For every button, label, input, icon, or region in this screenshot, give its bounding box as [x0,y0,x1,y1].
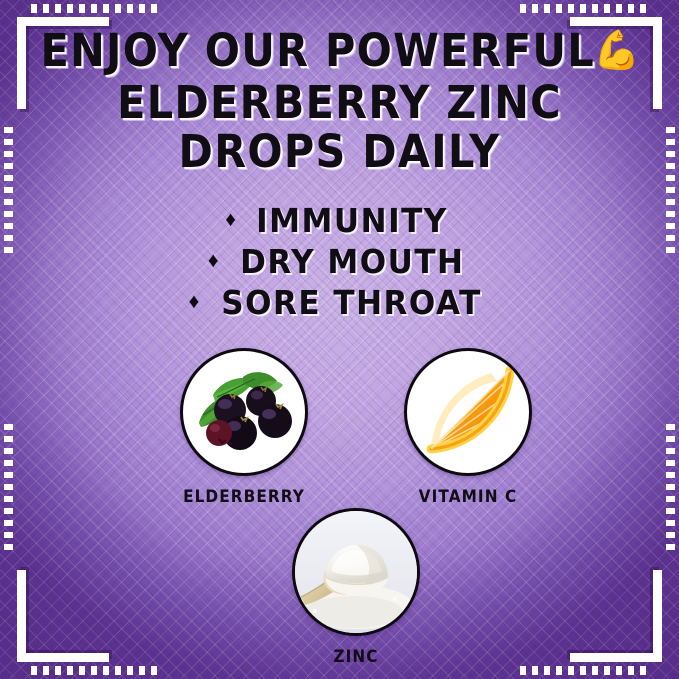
ingredient-label: VITAMIN C [407,487,529,507]
flexed-biceps-icon: 💪 [593,26,640,75]
bracket-shadow-vertical [20,567,29,659]
frame-dashes-horizontal [31,666,159,675]
frame-dashes-horizontal [520,666,648,675]
ingredient-label: ELDERBERRY [183,487,305,507]
frame-dashes-vertical [4,424,13,552]
bracket-arm-vertical [17,570,26,662]
elderberry-icon [183,351,305,473]
ingredient-elderberry: ELDERBERRY [176,348,312,507]
benefits-list: ♦ IMMUNITY ♦ DRY MOUTH ♦ SORE THROAT [0,200,679,323]
headline-line-3: DROPS DAILY [27,127,652,176]
bracket-shadow-vertical [650,567,659,659]
benefit-label: IMMUNITY [256,201,448,240]
zinc-powder-icon [295,511,417,633]
bracket-arm-horizontal [570,653,662,662]
diamond-bullet-icon: ♦ [208,250,219,271]
orange-slice-icon [407,351,529,473]
ingredient-label: ZINC [295,647,417,667]
headline-line-2: ELDERBERRY ZINC [27,78,652,127]
headline-line-1: ENJOY OUR POWERFUL💪 [27,26,652,78]
ingredient-image-circle [180,348,308,476]
bracket-arm-vertical [653,570,662,662]
ingredient-image-circle [292,508,420,636]
product-infographic: ENJOY OUR POWERFUL💪 ELDERBERRY ZINC DROP… [0,0,679,679]
diamond-bullet-icon: ♦ [189,291,200,312]
headline-block: ENJOY OUR POWERFUL💪 ELDERBERRY ZINC DROP… [0,26,679,176]
ingredient-image-circle [404,348,532,476]
headline-line-1-text: ENJOY OUR POWERFUL [41,24,595,77]
frame-dashes-vertical [666,424,675,552]
benefit-item-sore-throat: ♦ SORE THROAT [189,282,491,323]
ingredient-vitamin-c: VITAMIN C [400,348,536,507]
frame-dashes-horizontal [31,4,159,13]
corner-frame-bottom-left [17,512,167,662]
frame-dashes-horizontal [520,4,648,13]
corner-frame-bottom-right [512,512,662,662]
diamond-bullet-icon: ♦ [225,209,236,230]
bracket-shadow-horizontal [20,650,112,659]
bracket-arm-horizontal [17,653,109,662]
benefit-item-dry-mouth: ♦ DRY MOUTH [208,241,471,282]
benefit-label: SORE THROAT [222,283,482,322]
bracket-shadow-horizontal [567,650,659,659]
benefit-item-immunity: ♦ IMMUNITY [225,200,454,241]
benefit-label: DRY MOUTH [240,242,464,281]
ingredient-zinc: ZINC [288,508,424,667]
